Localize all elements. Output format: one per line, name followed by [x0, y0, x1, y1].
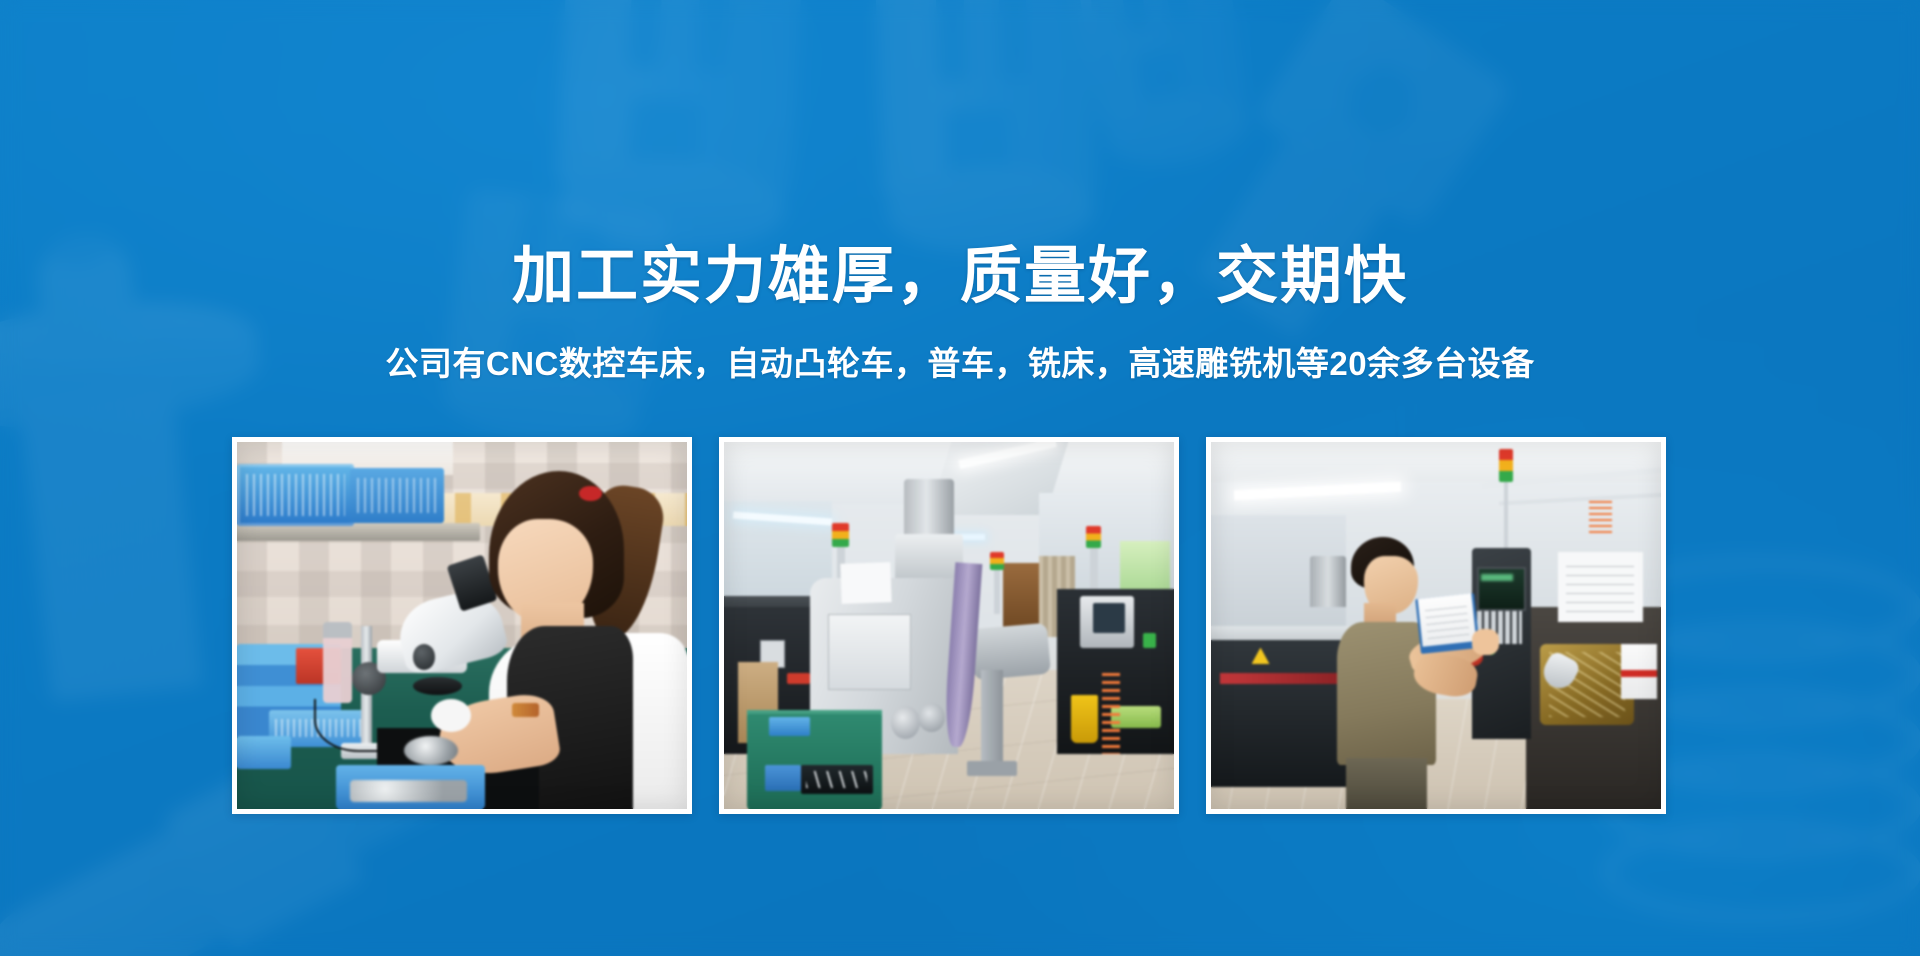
quality-inspection-photo	[237, 442, 687, 809]
promo-banner: 加工实力雄厚，质量好，交期快 公司有CNC数控车床，自动凸轮车，普车，铣床，高速…	[0, 0, 1920, 956]
slotted-cylinder-watermark-icon	[434, 187, 672, 463]
page-title: 加工实力雄厚，质量好，交期快	[0, 243, 1920, 311]
cnc-workshop-photo	[724, 442, 1174, 809]
cnc-operator-photo	[1211, 442, 1661, 809]
gallery-item-cnc-workshop[interactable]	[719, 437, 1179, 814]
slotted-cylinder-watermark-icon	[1073, 0, 1257, 180]
hex-socket-screw-watermark-icon	[1138, 0, 1571, 401]
slotted-cylinder-watermark-icon	[875, 0, 1100, 264]
slotted-cylinder-watermark-icon	[552, 0, 802, 262]
banner-subtitle: 公司有CNC数控车床，自动凸轮车，普车，铣床，高速雕铣机等20余多台设备	[0, 343, 1920, 385]
gallery-item-cnc-operator[interactable]	[1206, 437, 1666, 814]
gallery-item-quality-inspection[interactable]	[232, 437, 692, 814]
photo-gallery	[232, 437, 1666, 814]
